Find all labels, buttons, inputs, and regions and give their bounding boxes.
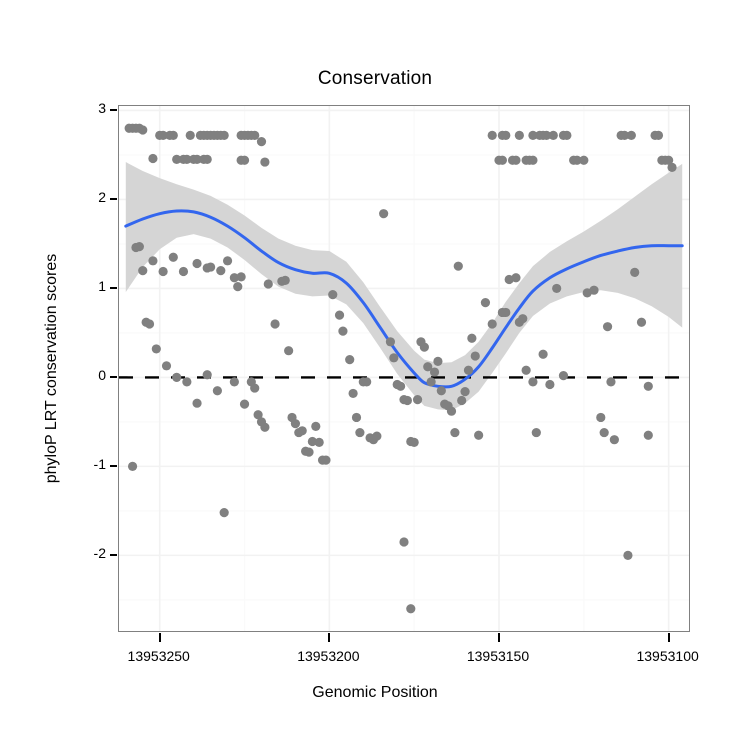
- y-axis-tick-label: -2: [80, 545, 106, 561]
- plot-panel: [118, 105, 690, 632]
- data-point: [169, 131, 178, 140]
- data-point: [454, 262, 463, 271]
- data-point: [511, 156, 520, 165]
- y-axis-tick-mark: [110, 198, 117, 200]
- data-point: [410, 438, 419, 447]
- data-point: [206, 262, 215, 271]
- data-point: [260, 157, 269, 166]
- data-point: [606, 377, 615, 386]
- data-point: [644, 382, 653, 391]
- y-axis-title: phyloP LRT conservation scores: [40, 105, 64, 632]
- conservation-chart: Conservation 3210-1-2 139532501395320013…: [0, 0, 750, 750]
- data-point: [270, 319, 279, 328]
- y-axis-tick-label: -1: [80, 456, 106, 472]
- data-point: [545, 380, 554, 389]
- data-point: [447, 407, 456, 416]
- data-point: [457, 396, 466, 405]
- data-point: [182, 377, 191, 386]
- data-point: [355, 428, 364, 437]
- data-point: [138, 125, 147, 134]
- y-axis-tick-label: 2: [80, 189, 106, 205]
- data-point: [654, 131, 663, 140]
- y-axis-tick-label: 3: [80, 100, 106, 116]
- data-point: [644, 431, 653, 440]
- data-point: [430, 367, 439, 376]
- chart-title: Conservation: [0, 68, 750, 90]
- data-point: [528, 377, 537, 386]
- data-point: [464, 366, 473, 375]
- data-point: [627, 131, 636, 140]
- data-point: [162, 361, 171, 370]
- data-point: [172, 373, 181, 382]
- data-point: [630, 268, 639, 277]
- data-point: [264, 279, 273, 288]
- data-point: [203, 370, 212, 379]
- y-axis-tick-mark: [110, 109, 117, 111]
- data-point: [399, 537, 408, 546]
- data-point: [135, 242, 144, 251]
- data-point: [501, 131, 510, 140]
- y-axis-tick-labels: 3210-1-2: [76, 105, 106, 632]
- data-point: [291, 419, 300, 428]
- data-point: [420, 343, 429, 352]
- data-point: [559, 371, 568, 380]
- data-point: [386, 337, 395, 346]
- data-point: [522, 366, 531, 375]
- data-point: [321, 456, 330, 465]
- data-point: [518, 314, 527, 323]
- x-axis-tick-mark: [328, 633, 330, 642]
- x-axis-tick-label: 13953200: [268, 648, 388, 664]
- data-point: [532, 428, 541, 437]
- y-axis-tick-mark: [110, 465, 117, 467]
- data-point: [549, 131, 558, 140]
- x-axis-tick-mark: [498, 633, 500, 642]
- data-point: [596, 413, 605, 422]
- data-point: [433, 357, 442, 366]
- data-point: [437, 386, 446, 395]
- x-axis-tick-mark: [668, 633, 670, 642]
- data-point: [362, 377, 371, 386]
- x-axis-tick-label: 13953150: [438, 648, 558, 664]
- data-point: [298, 426, 307, 435]
- data-point: [345, 355, 354, 364]
- data-point: [284, 346, 293, 355]
- data-point: [257, 137, 266, 146]
- data-point: [260, 423, 269, 432]
- data-point: [223, 256, 232, 265]
- data-point: [192, 259, 201, 268]
- data-point: [233, 282, 242, 291]
- data-point: [396, 382, 405, 391]
- x-axis-title: Genomic Position: [0, 684, 750, 702]
- data-point: [498, 156, 507, 165]
- data-point: [250, 131, 259, 140]
- data-point: [379, 209, 388, 218]
- data-point: [467, 334, 476, 343]
- data-point: [501, 308, 510, 317]
- data-point: [335, 311, 344, 320]
- data-point: [552, 284, 561, 293]
- y-axis-tick-label: 1: [80, 278, 106, 294]
- data-point: [240, 156, 249, 165]
- data-point: [179, 267, 188, 276]
- data-point: [352, 413, 361, 422]
- data-point: [610, 435, 619, 444]
- y-axis-tick-label: 0: [80, 367, 106, 383]
- x-axis-tick-mark: [159, 633, 161, 642]
- data-point: [152, 344, 161, 353]
- data-point: [562, 131, 571, 140]
- data-point: [471, 351, 480, 360]
- data-point: [413, 395, 422, 404]
- data-point: [528, 156, 537, 165]
- x-axis-tick-label: 13953250: [99, 648, 219, 664]
- data-point: [474, 431, 483, 440]
- data-point: [304, 448, 313, 457]
- data-point: [667, 163, 676, 172]
- data-point: [230, 377, 239, 386]
- data-point: [311, 422, 320, 431]
- data-point: [539, 350, 548, 359]
- data-point: [403, 396, 412, 405]
- data-point: [138, 266, 147, 275]
- data-point: [600, 428, 609, 437]
- data-point: [349, 389, 358, 398]
- y-axis-tick-mark: [110, 554, 117, 556]
- data-point: [315, 438, 324, 447]
- data-point: [389, 353, 398, 362]
- data-point: [145, 319, 154, 328]
- data-point: [481, 298, 490, 307]
- data-point: [372, 432, 381, 441]
- data-point: [328, 290, 337, 299]
- data-point: [603, 322, 612, 331]
- data-point: [623, 551, 632, 560]
- data-point: [237, 272, 246, 281]
- x-axis-tick-label: 13953100: [608, 648, 728, 664]
- data-point: [515, 131, 524, 140]
- data-point: [406, 604, 415, 613]
- data-point: [148, 256, 157, 265]
- data-point: [192, 399, 201, 408]
- data-point: [250, 383, 259, 392]
- data-point: [488, 131, 497, 140]
- data-point: [338, 327, 347, 336]
- data-point: [427, 377, 436, 386]
- data-point: [460, 387, 469, 396]
- data-point: [186, 131, 195, 140]
- data-point: [213, 386, 222, 395]
- data-point: [579, 156, 588, 165]
- data-point: [216, 266, 225, 275]
- data-point: [488, 319, 497, 328]
- data-point: [637, 318, 646, 327]
- data-point: [220, 508, 229, 517]
- data-point: [281, 276, 290, 285]
- data-point: [148, 154, 157, 163]
- data-point: [169, 253, 178, 262]
- data-point: [128, 462, 137, 471]
- data-point: [159, 267, 168, 276]
- data-point: [589, 286, 598, 295]
- data-point: [240, 399, 249, 408]
- data-point: [450, 428, 459, 437]
- data-point: [511, 273, 520, 282]
- data-point: [220, 131, 229, 140]
- data-point: [203, 155, 212, 164]
- y-axis-tick-mark: [110, 376, 117, 378]
- plot-svg: [119, 106, 689, 631]
- y-axis-tick-mark: [110, 287, 117, 289]
